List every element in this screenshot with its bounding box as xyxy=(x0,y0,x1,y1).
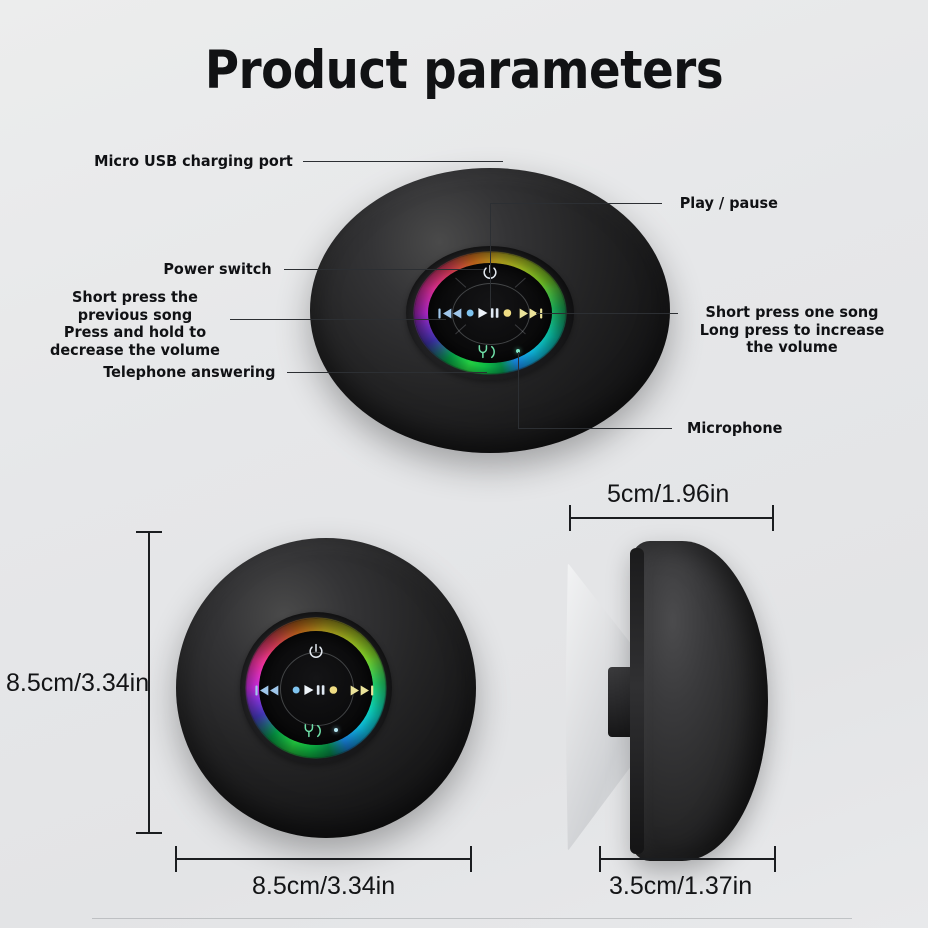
dimension-line-side-depth xyxy=(600,858,776,860)
leader-play-pause-vertical xyxy=(490,203,491,313)
callout-previous-song-volume-down: Short press the previous song Press and … xyxy=(45,289,225,360)
callout-microphone: Microphone xyxy=(687,420,873,438)
leader-power-switch xyxy=(284,269,484,270)
next-track-icon[interactable] xyxy=(348,680,374,700)
dimension-side-depth: 3.5cm/1.37in xyxy=(609,872,752,901)
bottom-divider xyxy=(92,918,852,919)
dimension-front-width: 8.5cm/3.34in xyxy=(252,872,395,901)
leader-telephone-answering xyxy=(287,372,487,373)
leader-play-pause-horizontal xyxy=(490,203,662,204)
leader-micro-usb xyxy=(303,161,503,162)
leader-previous-song xyxy=(230,319,446,320)
power-icon[interactable] xyxy=(305,641,327,663)
call-answer-icon[interactable] xyxy=(299,721,333,741)
callout-play-pause: Play / pause xyxy=(680,195,885,213)
previous-track-icon[interactable] xyxy=(254,680,280,700)
dimension-cap-right xyxy=(772,505,774,531)
speaker-back-plate xyxy=(630,548,644,854)
callout-next-song-volume-up: Short press one song Long press to incre… xyxy=(686,304,898,357)
dimension-line-side-height xyxy=(570,517,774,519)
callout-power-switch: Power switch xyxy=(48,261,271,279)
dimension-cap-right xyxy=(470,846,472,872)
dimension-cap-left xyxy=(599,846,601,872)
dimension-cap-left xyxy=(175,846,177,872)
dimension-cap-right xyxy=(774,846,776,872)
dimension-line-front-width xyxy=(176,858,472,860)
infographic-page: Product parameters xyxy=(0,0,928,928)
dimension-cap-top xyxy=(136,531,162,533)
dimension-cap-left xyxy=(569,505,571,531)
leader-microphone-horizontal xyxy=(518,428,672,429)
dimension-front-height: 8.5cm/3.34in xyxy=(6,669,149,698)
leader-next-song xyxy=(536,313,678,314)
leader-microphone-vertical xyxy=(518,352,519,429)
microphone-dot-icon xyxy=(334,728,338,732)
dimension-side-height: 5cm/1.96in xyxy=(607,480,729,509)
call-answer-icon[interactable] xyxy=(473,342,507,362)
page-title: Product parameters xyxy=(56,40,873,101)
callout-micro-usb-charging-port: Micro USB charging port xyxy=(49,153,293,171)
dimension-cap-bottom xyxy=(136,832,162,834)
play-pause-icon[interactable] xyxy=(292,681,340,699)
callout-telephone-answering: Telephone answering xyxy=(49,364,276,382)
speaker-side-view xyxy=(632,541,768,861)
